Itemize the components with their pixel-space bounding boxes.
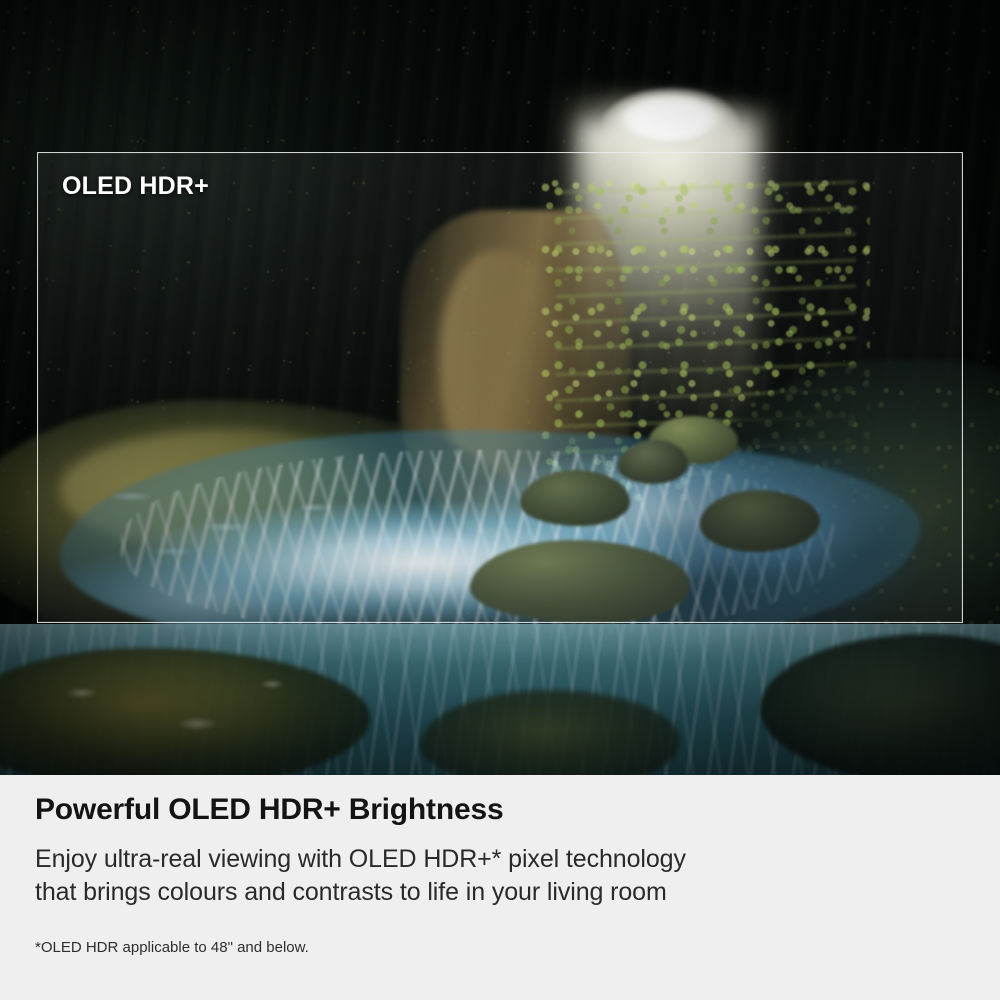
feature-title: Powerful OLED HDR+ Brightness bbox=[35, 793, 503, 827]
oled-hdr-plus-badge: OLED HDR+ bbox=[62, 172, 209, 201]
product-feature-page: OLED HDR+ Powerful OLED HDR+ Brightness … bbox=[0, 0, 1000, 1000]
feature-description: Enjoy ultra-real viewing with OLED HDR+*… bbox=[35, 843, 905, 909]
foreground-rock-highlights bbox=[0, 660, 340, 770]
cave-river-photo bbox=[0, 0, 1000, 775]
feature-description-line-1: Enjoy ultra-real viewing with OLED HDR+*… bbox=[35, 843, 905, 876]
feature-description-line-2: that brings colours and contrasts to lif… bbox=[35, 876, 905, 909]
cave-opening-highlight bbox=[622, 96, 718, 142]
caption-panel: Powerful OLED HDR+ Brightness Enjoy ultr… bbox=[0, 775, 1000, 1000]
hero-image: OLED HDR+ bbox=[0, 0, 1000, 775]
feature-footnote: *OLED HDR applicable to 48" and below. bbox=[35, 939, 309, 956]
